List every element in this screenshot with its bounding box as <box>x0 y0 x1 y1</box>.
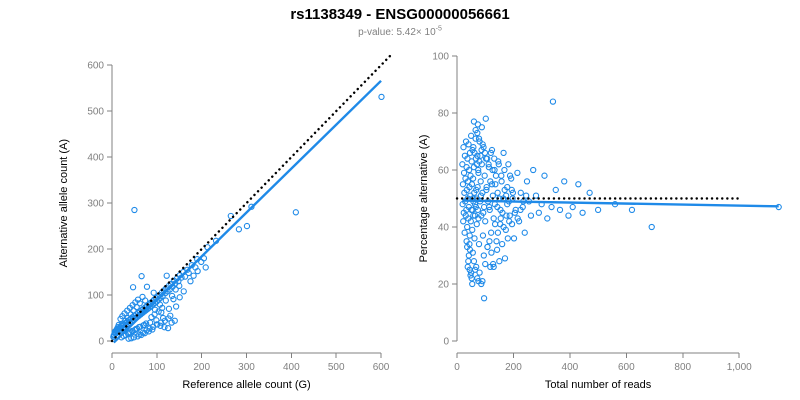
x-tick-label: 300 <box>238 362 255 373</box>
y-tick-label: 100 <box>87 291 104 302</box>
x-tick-label: 100 <box>148 362 165 373</box>
panel-allelic-ratio: 02040608010002004006008001,000 Total num… <box>400 0 800 400</box>
x-tick-label: 400 <box>283 362 300 373</box>
x-tick-label: 400 <box>562 362 579 373</box>
y-tick-label: 200 <box>87 245 104 256</box>
y-tick-label: 300 <box>87 199 104 210</box>
y-axis-label-right: Percentage alternative (A) <box>418 56 430 341</box>
x-tick-label: 800 <box>674 362 691 373</box>
y-tick-label: 600 <box>87 61 104 72</box>
data-points <box>460 99 782 301</box>
y-axis-label-left: Alternative allele count (A) <box>58 65 70 341</box>
y-tick-label: 100 <box>432 52 449 63</box>
panel-allele-counts: 01002003004005006000100200300400500600 R… <box>0 0 400 400</box>
x-tick-label: 500 <box>328 362 345 373</box>
x-tick-label: 200 <box>505 362 522 373</box>
y-tick-label: 0 <box>443 337 449 348</box>
x-tick-label: 600 <box>373 362 390 373</box>
y-tick-label: 500 <box>87 107 104 118</box>
x-tick-label: 200 <box>193 362 210 373</box>
y-tick-label: 20 <box>438 280 450 291</box>
x-tick-label: 1,000 <box>727 362 752 373</box>
y-tick-label: 400 <box>87 153 104 164</box>
y-tick-label: 60 <box>438 166 450 177</box>
x-axis-label-left: Reference allele count (G) <box>112 379 381 391</box>
x-tick-label: 600 <box>618 362 635 373</box>
scatter-plot-allelic-ratio: 02040608010002004006008001,000 <box>400 0 800 400</box>
y-tick-label: 40 <box>438 223 450 234</box>
x-tick-label: 0 <box>109 362 115 373</box>
reference-line <box>112 56 390 341</box>
chart-page: rs1138349 - ENSG00000056661 p-value: 5.4… <box>0 0 800 400</box>
y-tick-label: 80 <box>438 109 450 120</box>
fit-line <box>114 81 381 343</box>
y-tick-label: 0 <box>98 337 104 348</box>
x-tick-label: 0 <box>454 362 460 373</box>
x-axis-label-right: Total number of reads <box>457 379 739 391</box>
